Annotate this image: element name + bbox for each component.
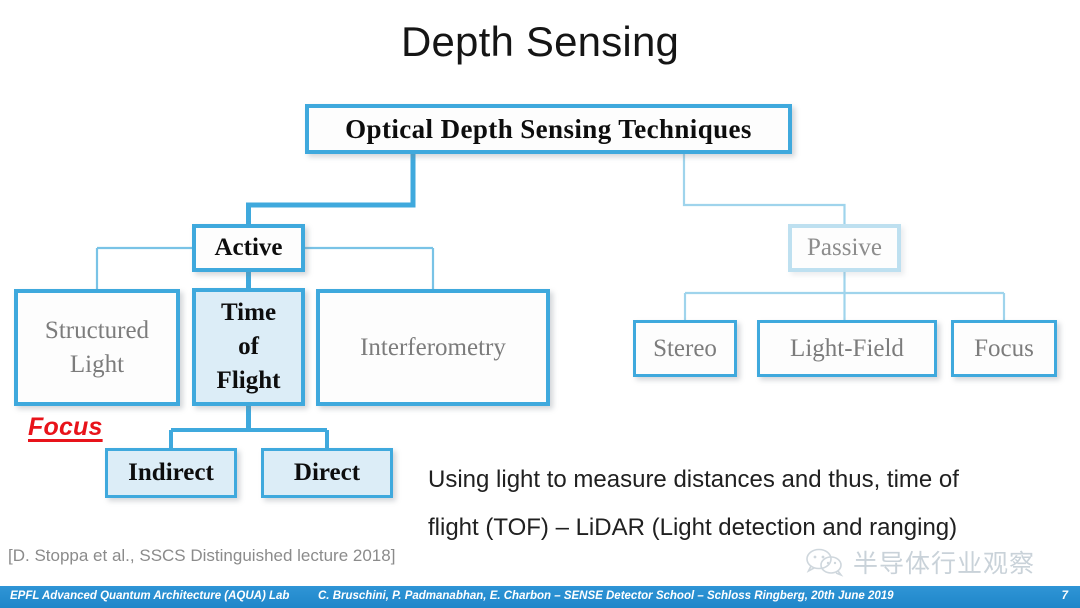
body-text-line1: Using light to measure distances and thu… [428, 456, 1068, 504]
node-interferometry[interactable]: Interferometry [316, 289, 550, 406]
node-passive[interactable]: Passive [788, 224, 901, 272]
body-text: Using light to measure distances and thu… [428, 456, 1068, 552]
footer-center-text: C. Bruschini, P. Padmanabhan, E. Charbon… [318, 590, 894, 602]
watermark: 半导体行业观察 [805, 544, 1035, 580]
citation-reference: [D. Stoppa et al., SSCS Distinguished le… [8, 546, 395, 566]
watermark-text: 半导体行业观察 [853, 544, 1035, 580]
node-indirect[interactable]: Indirect [105, 448, 237, 498]
footer-left-text: EPFL Advanced Quantum Architecture (AQUA… [10, 590, 289, 602]
node-time-of-flight-line1: Time [221, 299, 276, 326]
node-time-of-flight-line3: Flight [217, 367, 281, 394]
focus-annotation: Focus [28, 413, 103, 442]
node-time-of-flight[interactable]: Time of Flight [192, 288, 305, 406]
node-time-of-flight-line2: of [238, 333, 259, 360]
footer-page-number: 7 [1062, 590, 1068, 602]
node-optical-depth-sensing-techniques[interactable]: Optical Depth Sensing Techniques [305, 104, 792, 154]
slide-footer: EPFL Advanced Quantum Architecture (AQUA… [0, 586, 1080, 608]
node-direct[interactable]: Direct [261, 448, 393, 498]
node-stereo[interactable]: Stereo [633, 320, 737, 377]
wechat-icon [805, 547, 845, 577]
node-focus[interactable]: Focus [951, 320, 1057, 377]
node-active[interactable]: Active [192, 224, 305, 272]
slide-canvas: Depth Sensing Optical Depth Sensing Tech… [0, 0, 1080, 608]
node-structured-light-line1: Structured [45, 317, 149, 344]
node-structured-light-line2: Light [70, 351, 124, 378]
node-light-field[interactable]: Light-Field [757, 320, 937, 377]
node-structured-light[interactable]: Structured Light [14, 289, 180, 406]
